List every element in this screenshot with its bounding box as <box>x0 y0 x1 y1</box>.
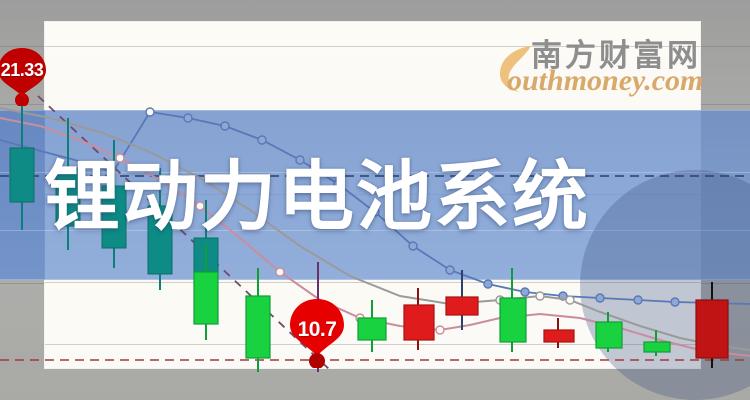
low-price-pin[interactable]: 10.7 <box>286 296 348 368</box>
high-price-label: 21.33 <box>0 60 50 81</box>
pin-dot <box>15 93 29 106</box>
high-price-pin[interactable]: 21.33 <box>0 44 50 106</box>
page-title: 锂动力电池系统 <box>44 150 714 244</box>
screenshot-stage: 21.33 10.7 南方财富网 outhmoney.com 锂动力电池系统 <box>0 0 750 400</box>
pin-dot <box>309 353 325 368</box>
low-price-label: 10.7 <box>286 318 348 342</box>
candle-group-main <box>194 244 728 372</box>
